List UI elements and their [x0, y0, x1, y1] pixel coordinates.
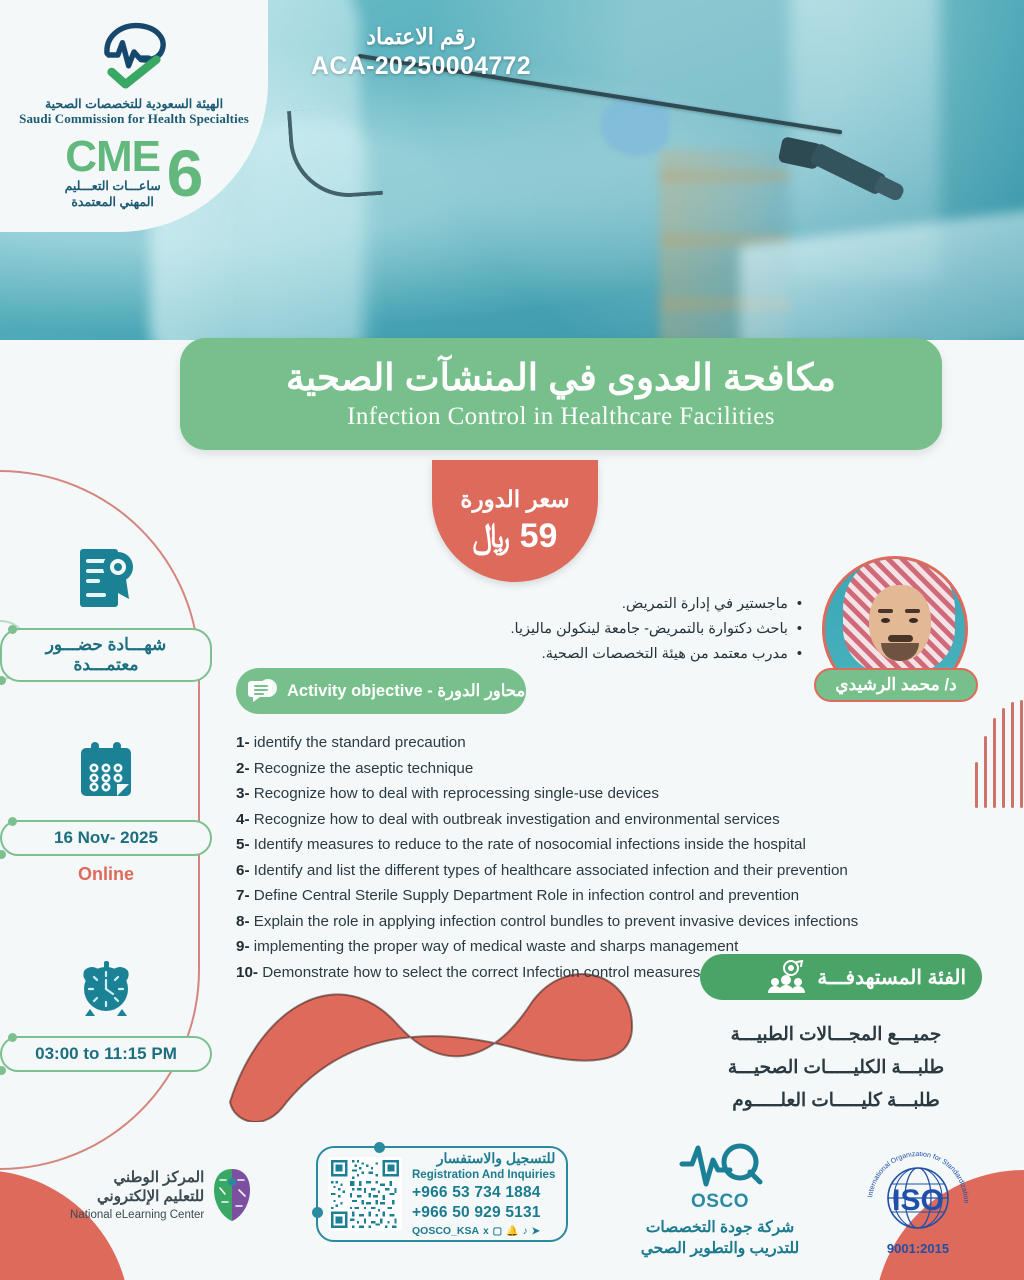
- date-pill: 16 Nov- 2025: [0, 820, 212, 856]
- speaker-face: [869, 585, 931, 661]
- objective-item: 7- Define Central Sterile Supply Departm…: [236, 885, 916, 907]
- registration-card[interactable]: للتسجيل والاستفسار Registration And Inqu…: [316, 1146, 568, 1242]
- tiktok-icon[interactable]: ♪: [523, 1225, 528, 1238]
- speaker-name-badge: د/ محمد الرشيدي: [814, 668, 978, 702]
- cme-hours-value: 6: [167, 147, 204, 200]
- certificate-icon: [0, 540, 212, 618]
- decor-red-lines: [975, 700, 1024, 808]
- price-value: 59 ﷼: [473, 517, 558, 556]
- speaker-credentials: ماجستير في إدارة التمريض. باحث دكتوارة ب…: [382, 592, 802, 667]
- audience-list: جميـــع المجـــالات الطبيـــة طلبـــة ال…: [690, 1018, 982, 1117]
- speaker-credential: باحث دكتوارة بالتمريض- جامعة لينكولن مال…: [382, 617, 802, 642]
- info-item-certificate: شهـــادة حضـــور معتمـــدة: [0, 540, 212, 682]
- course-title-arabic: مكافحة العدوى في المنشآت الصحية: [286, 357, 836, 400]
- nelc-logo-block: المركز الوطني للتعليم الإلكتروني Nationa…: [70, 1168, 300, 1222]
- info-item-time: 03:00 to 11:15 PM: [0, 948, 212, 1072]
- iso-certification-block: International Organization for Standardi…: [838, 1152, 998, 1256]
- registration-label-arabic: للتسجيل والاستفسار: [412, 1149, 555, 1167]
- objectives-heading: محاور الدورة - Activity objective: [236, 668, 526, 714]
- date-label: 16 Nov- 2025: [54, 828, 158, 848]
- cme-caption-line1: ساعـــات التعـــليم: [65, 179, 161, 195]
- certificate-pill: شهـــادة حضـــور معتمـــدة: [0, 628, 212, 682]
- nelc-arabic-line1: المركز الوطني: [70, 1169, 204, 1188]
- objective-item: 4- Recognize how to deal with outbreak i…: [236, 809, 916, 831]
- accreditation-label: رقم الاعتماد: [286, 24, 556, 50]
- social-handle: QOSCO_KSA: [412, 1225, 479, 1239]
- delivery-mode-label: Online: [0, 864, 212, 885]
- iso-logo-icon: International Organization for Standardi…: [854, 1152, 982, 1240]
- phone-number-1[interactable]: +966 53 734 1884: [412, 1183, 555, 1203]
- cme-caption-line2: المهني المعتمدة: [65, 195, 161, 211]
- x-icon[interactable]: x: [483, 1225, 489, 1238]
- schs-arabic-name: الهيئة السعودية للتخصصات الصحية: [45, 96, 223, 111]
- speaker-credential: ماجستير في إدارة التمريض.: [382, 592, 802, 617]
- schs-logo-icon: [91, 18, 177, 92]
- accreditation-block: رقم الاعتماد ACA-20250004772: [286, 24, 556, 81]
- iso-standard-number: 9001:2015: [838, 1241, 998, 1256]
- qosco-mark-icon: [660, 1142, 780, 1192]
- instagram-icon[interactable]: ▢: [493, 1225, 502, 1238]
- time-pill: 03:00 to 11:15 PM: [0, 1036, 212, 1072]
- audience-item: جميـــع المجـــالات الطبيـــة: [690, 1018, 982, 1051]
- objectives-heading-label: محاور الدورة - Activity objective: [287, 681, 525, 701]
- telegram-icon[interactable]: ➤: [532, 1225, 540, 1238]
- objectives-list: 1- identify the standard precaution 2- R…: [236, 732, 916, 987]
- nelc-english-name: National eLearning Center: [70, 1209, 204, 1221]
- qr-code[interactable]: [328, 1157, 402, 1231]
- audience-heading-label: الفئة المستهدفـــة: [817, 965, 966, 990]
- certificate-label: شهـــادة حضـــور معتمـــدة: [16, 635, 196, 675]
- target-audience-icon: [767, 960, 807, 994]
- nelc-emblem-icon: [212, 1168, 252, 1222]
- price-badge: سعر الدورة 59 ﷼: [432, 460, 598, 582]
- objective-item: 1- identify the standard precaution: [236, 732, 916, 754]
- nelc-arabic-line2: للتعليم الإلكتروني: [70, 1188, 204, 1207]
- alarm-clock-icon: [0, 948, 212, 1026]
- qosco-arabic-line2: للتدريب والتطوير الصحي: [600, 1239, 840, 1260]
- cme-block: CME ساعـــات التعـــليم المهني المعتمدة …: [65, 137, 204, 211]
- audience-heading: الفئة المستهدفـــة: [700, 954, 982, 1000]
- course-title-english: Infection Control in Healthcare Faciliti…: [347, 403, 775, 431]
- iso-wordmark: ISO: [892, 1184, 944, 1217]
- info-item-date: 16 Nov- 2025 Online: [0, 732, 212, 885]
- objective-item: 3- Recognize how to deal with reprocessi…: [236, 783, 916, 805]
- objective-item: 6- Identify and list the different types…: [236, 860, 916, 882]
- speaker-credential: مدرب معتمد من هيئة التخصصات الصحية.: [382, 642, 802, 667]
- cme-wordmark: CME: [65, 137, 160, 177]
- qosco-wordmark: OSCO: [600, 1191, 840, 1213]
- objective-item: 8- Explain the role in applying infectio…: [236, 911, 916, 933]
- objective-item: 2- Recognize the aseptic technique: [236, 758, 916, 780]
- qosco-logo-block: OSCO شركة جودة التخصصات للتدريب والتطوير…: [600, 1142, 840, 1260]
- accreditation-number: ACA-20250004772: [286, 52, 556, 81]
- qosco-arabic-line1: شركة جودة التخصصات: [600, 1218, 840, 1239]
- audience-item: طلبـــة الكليـــــات الصحيـــة: [690, 1051, 982, 1084]
- course-poster: الهيئة السعودية للتخصصات الصحية Saudi Co…: [0, 0, 1024, 1280]
- audience-item: طلبـــة كليـــــات العلـــــوم: [690, 1084, 982, 1117]
- price-label: سعر الدورة: [460, 486, 569, 513]
- objective-item: 5- Identify measures to reduce to the ra…: [236, 834, 916, 856]
- snapchat-icon[interactable]: 🔔: [506, 1225, 518, 1238]
- calendar-icon: [0, 732, 212, 810]
- phone-number-2[interactable]: +966 50 929 5131: [412, 1203, 555, 1223]
- course-title-band: مكافحة العدوى في المنشآت الصحية Infectio…: [180, 338, 942, 450]
- schs-english-name: Saudi Commission for Health Specialties: [19, 111, 249, 127]
- time-label: 03:00 to 11:15 PM: [35, 1044, 177, 1064]
- registration-label-english: Registration And Inquiries: [412, 1168, 555, 1183]
- chat-bubble-icon: [248, 677, 278, 705]
